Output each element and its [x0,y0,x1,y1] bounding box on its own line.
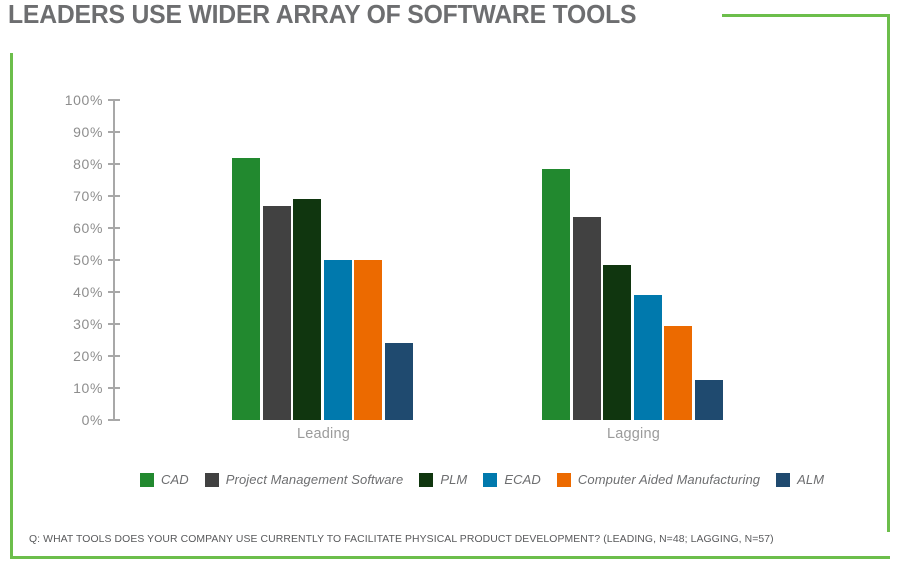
bar-lagging-alm [695,380,723,420]
bar-leading-project-management-software [263,206,291,420]
bar-lagging-plm [603,265,631,420]
bar-leading-alm [385,343,413,420]
bar-leading-cad [232,158,260,420]
legend-label: ECAD [504,472,541,487]
y-axis-tick-label: 60% [43,221,103,235]
legend-swatch-icon [140,473,154,487]
bar-group-leading [232,100,415,420]
y-axis-tick-label: 10% [43,381,103,395]
bar-leading-computer-aided-manufacturing [354,260,382,420]
legend-item-ecad[interactable]: ECAD [483,472,541,487]
y-axis-tick-mark [108,131,120,133]
legend-swatch-icon [557,473,571,487]
y-axis-tick-label: 50% [43,253,103,267]
y-axis-tick-mark [108,227,120,229]
legend-item-cad[interactable]: CAD [140,472,189,487]
footnote-question: Q: WHAT TOOLS DOES YOUR COMPANY USE CURR… [29,533,774,545]
legend-label: ALM [797,472,824,487]
y-axis-tick-mark [108,195,120,197]
category-label-lagging: Lagging [542,426,725,442]
y-axis-tick-label: 90% [43,125,103,139]
legend-label: CAD [161,472,189,487]
legend-item-alm[interactable]: ALM [776,472,824,487]
y-axis-tick-label: 100% [43,93,103,107]
y-axis-tick-label: 80% [43,157,103,171]
legend-swatch-icon [483,473,497,487]
y-axis-tick-mark [108,291,120,293]
legend-swatch-icon [205,473,219,487]
bar-lagging-ecad [634,295,662,420]
legend-item-project-management-software[interactable]: Project Management Software [205,472,404,487]
bar-group-lagging [542,100,725,420]
y-axis-tick-mark [108,323,120,325]
legend-item-computer-aided-manufacturing[interactable]: Computer Aided Manufacturing [557,472,760,487]
y-axis-tick-mark [108,419,120,421]
y-axis-tick-labels: 100%90%80%70%60%50%40%30%20%10%0% [45,0,103,567]
bar-leading-plm [293,199,321,420]
y-axis-tick-label: 0% [43,413,103,427]
bar-lagging-project-management-software [573,217,601,420]
legend-swatch-icon [419,473,433,487]
y-axis-tick-label: 40% [43,285,103,299]
y-axis-tick-mark [108,163,120,165]
category-label-leading: Leading [232,426,415,442]
plot-bars [115,100,775,420]
y-axis-tick-label: 20% [43,349,103,363]
legend-label: Computer Aided Manufacturing [578,472,760,487]
bar-lagging-cad [542,169,570,420]
y-axis-tick-mark [108,355,120,357]
chart-legend: CADProject Management SoftwarePLMECADCom… [140,472,840,487]
legend-swatch-icon [776,473,790,487]
legend-item-plm[interactable]: PLM [419,472,467,487]
legend-label: PLM [440,472,467,487]
y-axis-tick-label: 30% [43,317,103,331]
legend-label: Project Management Software [226,472,404,487]
y-axis-tick-mark [108,259,120,261]
y-axis-tick-mark [108,99,120,101]
bar-leading-ecad [324,260,352,420]
y-axis-tick-label: 70% [43,189,103,203]
y-axis-tick-mark [108,387,120,389]
bar-lagging-computer-aided-manufacturing [664,326,692,420]
